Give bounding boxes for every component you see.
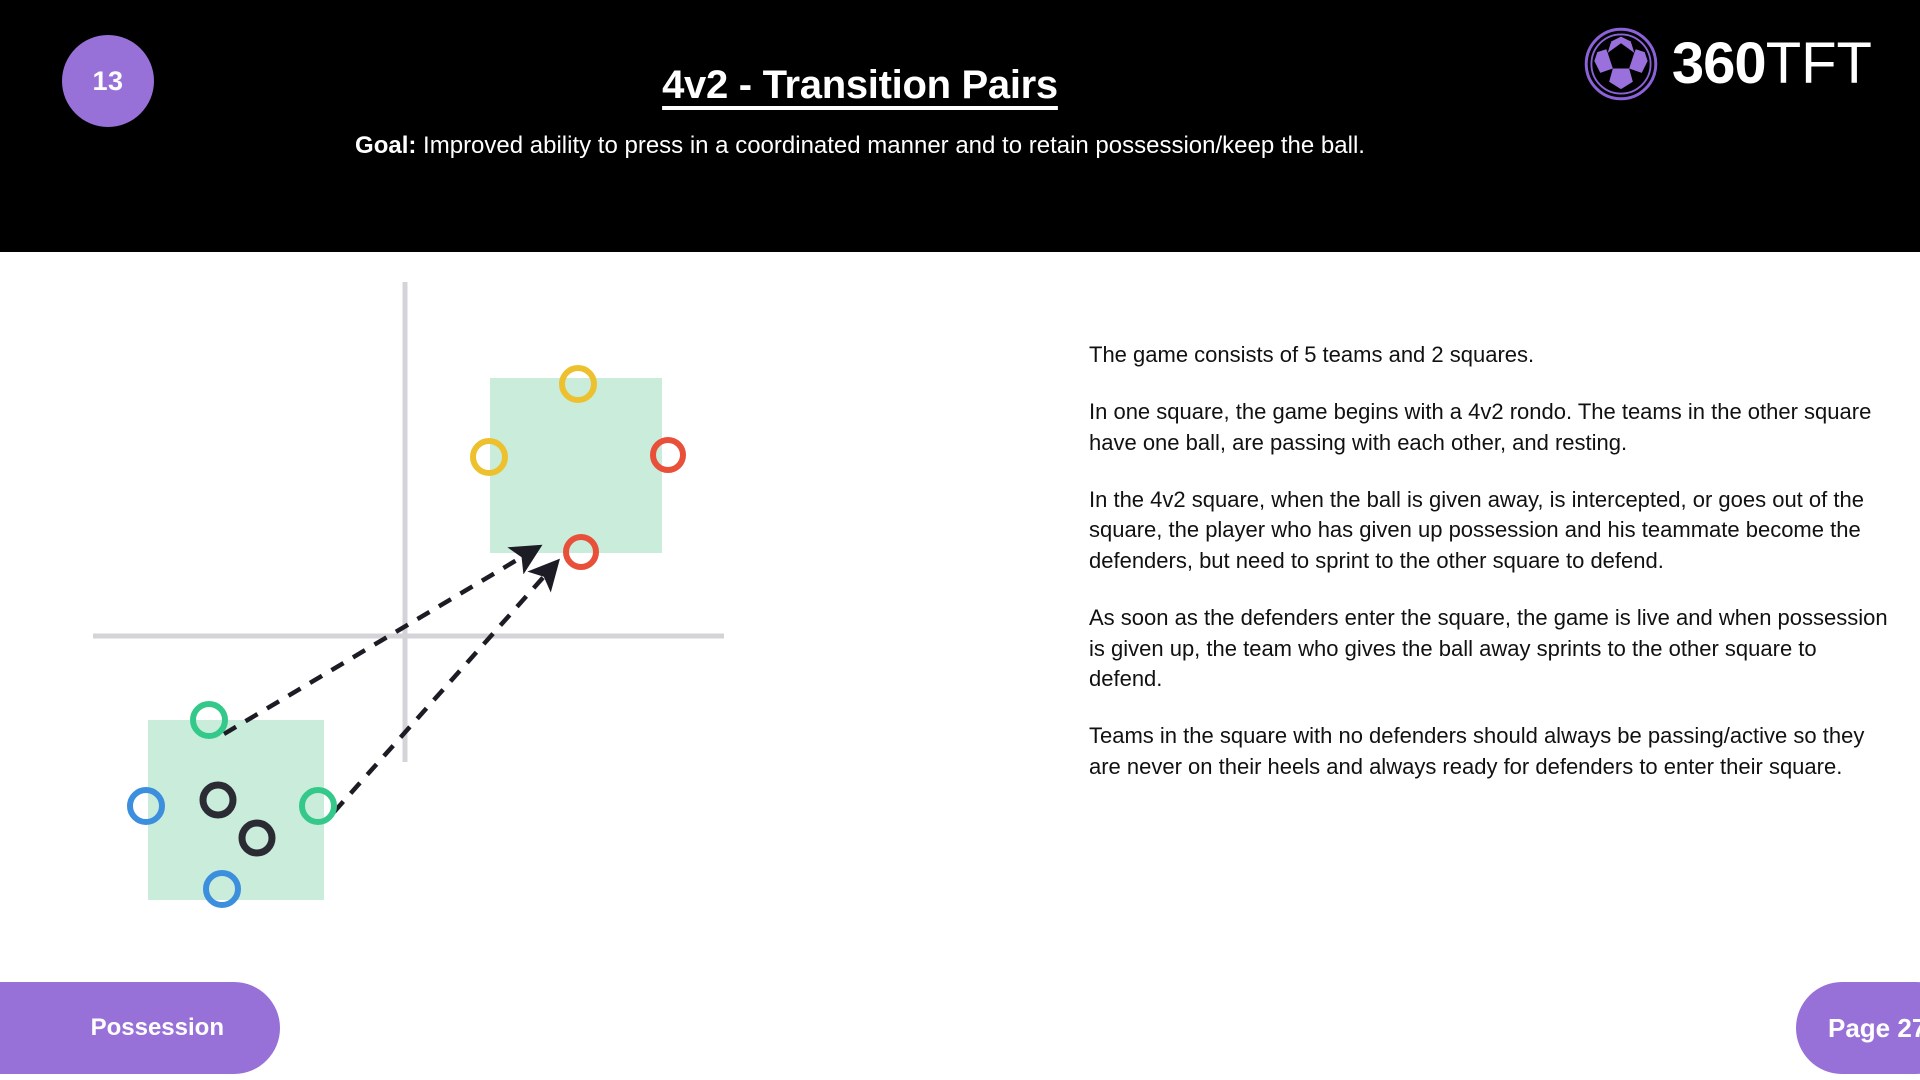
title-block: 4v2 - Transition Pairs Goal: Improved ab…: [200, 62, 1520, 161]
zone-bottom-square: [148, 720, 324, 900]
logo-wordmark: 360 TFT: [1672, 35, 1872, 93]
zone-top-square: [490, 378, 662, 553]
run-arrow-right: [334, 572, 548, 812]
slide-header: 13 4v2 - Transition Pairs Goal: Improved…: [0, 0, 1920, 252]
page-title: 4v2 - Transition Pairs: [200, 62, 1520, 108]
drill-diagram: [0, 252, 1000, 972]
goal-line: Goal: Improved ability to press in a coo…: [200, 130, 1520, 161]
slide-number-text: 13: [92, 66, 123, 97]
description-paragraph: In the 4v2 square, when the ball is give…: [1089, 485, 1889, 576]
logo-360-text: 360: [1672, 35, 1766, 93]
run-arrow-left: [224, 554, 527, 734]
description-paragraph: Teams in the square with no defenders sh…: [1089, 721, 1889, 782]
category-tag-pill: Possession: [0, 982, 280, 1074]
goal-label: Goal:: [355, 132, 416, 159]
brand-logo: 360 TFT: [1584, 27, 1872, 101]
description-paragraph: As soon as the defenders enter the squar…: [1089, 603, 1889, 694]
page-number-pill: Page 27: [1796, 982, 1920, 1074]
category-tag-label: Possession: [91, 1014, 224, 1042]
drill-description: The game consists of 5 teams and 2 squar…: [1089, 340, 1889, 782]
slide-number-badge: 13: [62, 35, 154, 127]
soccer-ball-icon: [1584, 27, 1658, 101]
goal-text: Improved ability to press in a coordinat…: [416, 132, 1365, 159]
logo-tft-text: TFT: [1766, 35, 1872, 93]
page-number-label: Page 27: [1828, 1013, 1920, 1044]
description-paragraph: In one square, the game begins with a 4v…: [1089, 397, 1889, 458]
description-paragraph: The game consists of 5 teams and 2 squar…: [1089, 340, 1889, 370]
